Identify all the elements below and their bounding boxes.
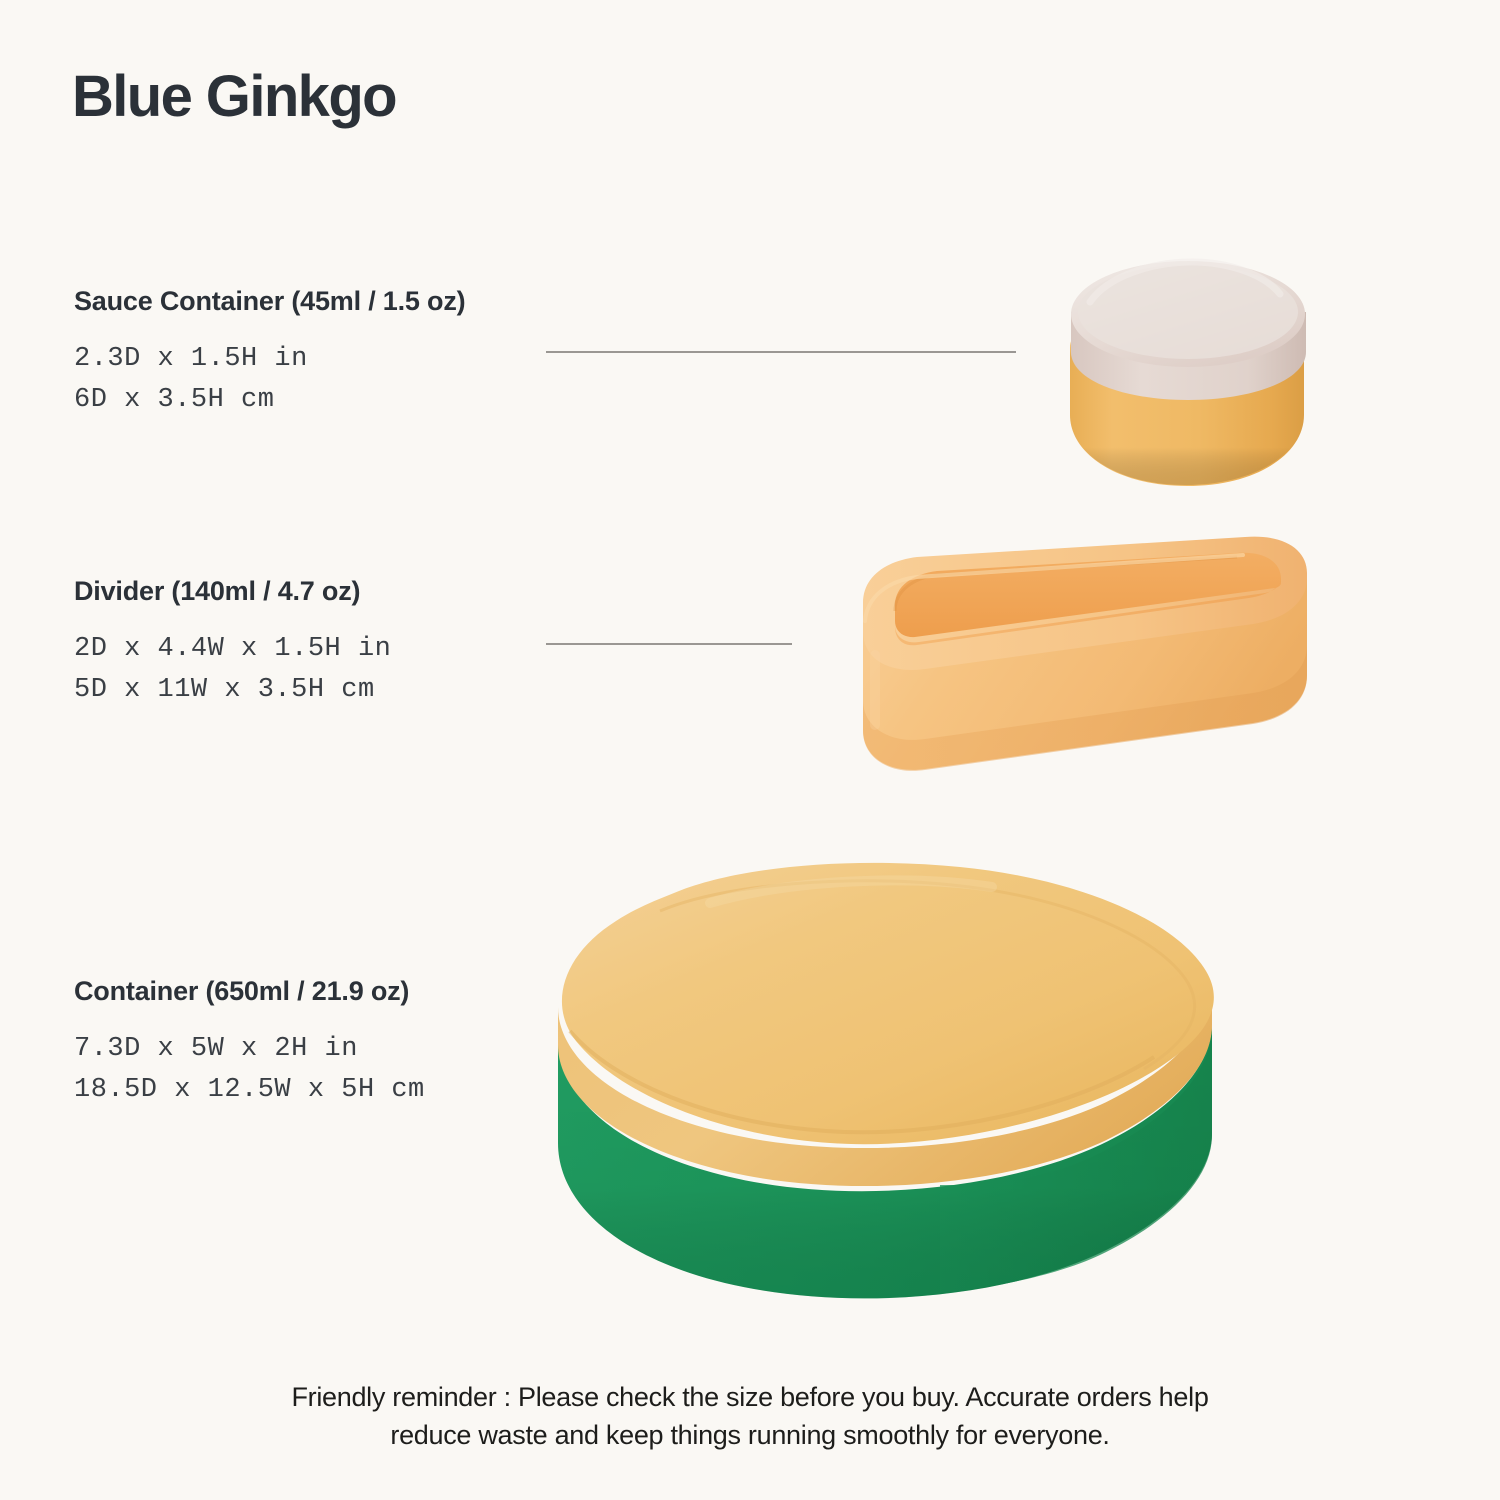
product-image-main-container — [540, 855, 1340, 1335]
footer-line-2: reduce waste and keep things running smo… — [0, 1416, 1500, 1454]
brand-logo: Blue Ginkgo — [72, 68, 396, 126]
dimension-inches: 2D x 4.4W x 1.5H in — [74, 629, 391, 670]
spec-title-container: Container (650ml / 21.9 oz) — [74, 975, 425, 1007]
dimension-centimeters: 18.5D x 12.5W x 5H cm — [74, 1070, 425, 1111]
footer-reminder: Friendly reminder : Please check the siz… — [0, 1378, 1500, 1455]
spec-block-divider: Divider (140ml / 4.7 oz) 2D x 4.4W x 1.5… — [74, 575, 391, 711]
spec-title-divider: Divider (140ml / 4.7 oz) — [74, 575, 391, 607]
product-image-sauce-container — [1060, 240, 1350, 520]
product-image-divider — [855, 525, 1325, 835]
spec-dimensions-divider: 2D x 4.4W x 1.5H in 5D x 11W x 3.5H cm — [74, 629, 391, 711]
sauce-container-lid — [1071, 261, 1306, 400]
dimension-centimeters: 5D x 11W x 3.5H cm — [74, 670, 391, 711]
dimension-inches: 2.3D x 1.5H in — [74, 339, 465, 380]
dimension-centimeters: 6D x 3.5H cm — [74, 380, 465, 421]
spec-block-container: Container (650ml / 21.9 oz) 7.3D x 5W x … — [74, 975, 425, 1111]
leader-line-sauce-container — [546, 351, 1016, 353]
leader-line-divider — [546, 643, 792, 645]
footer-line-1: Friendly reminder : Please check the siz… — [0, 1378, 1500, 1416]
spec-dimensions-sauce-container: 2.3D x 1.5H in 6D x 3.5H cm — [74, 339, 465, 421]
spec-block-sauce-container: Sauce Container (45ml / 1.5 oz) 2.3D x 1… — [74, 285, 465, 421]
dimension-inches: 7.3D x 5W x 2H in — [74, 1029, 425, 1070]
spec-title-sauce-container: Sauce Container (45ml / 1.5 oz) — [74, 285, 465, 317]
spec-dimensions-container: 7.3D x 5W x 2H in 18.5D x 12.5W x 5H cm — [74, 1029, 425, 1111]
infographic-canvas: Blue Ginkgo Sauce Container (45ml / 1.5 … — [0, 0, 1500, 1500]
